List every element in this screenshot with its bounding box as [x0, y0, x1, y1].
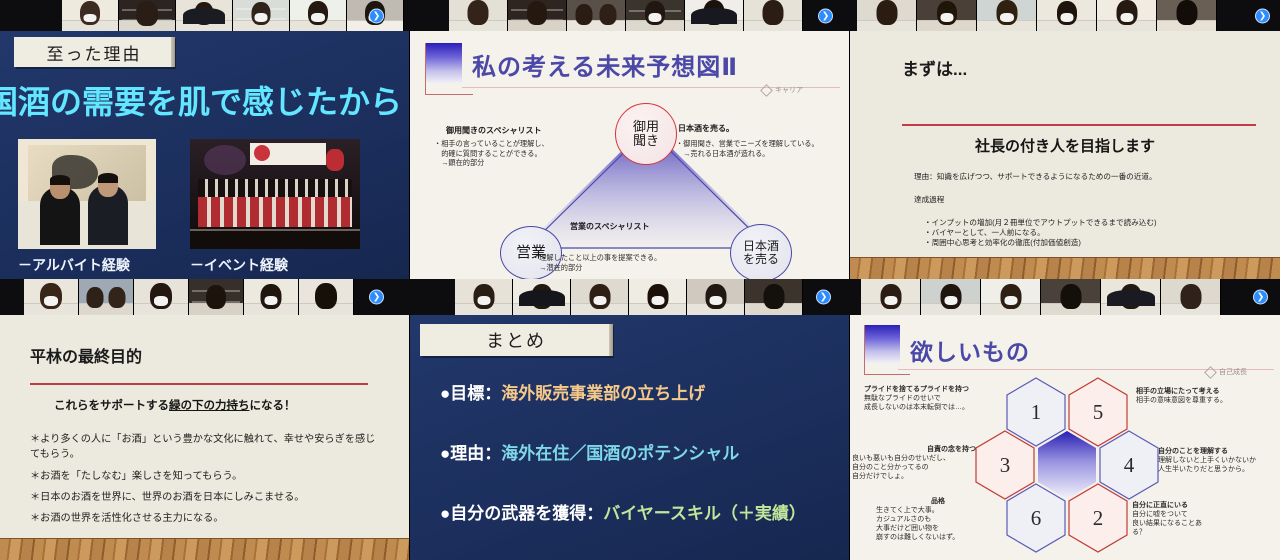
- lead-pre: これらをサポートする: [54, 400, 169, 412]
- summary-bullet-goal: ●目標：海外販売事業部の立ち上げ: [440, 379, 705, 404]
- participant-strip-top: ❯: [0, 0, 1280, 31]
- participant-tile[interactable]: [981, 279, 1041, 315]
- node-sell-sake: 日本酒を売る: [730, 224, 792, 279]
- keyword-career: キャリア: [762, 85, 803, 95]
- participant-group-center: ❯: [409, 279, 849, 315]
- slide-summary[interactable]: まとめ ●目標：海外販売事業部の立ち上げ ●理由：海外在住／国酒のポテンシャル …: [410, 315, 849, 560]
- slide-summary-tag: まとめ: [420, 324, 612, 356]
- slide-first-step[interactable]: まずは... 社長の付き人を目指します 理由：知識を広げつつ、サポートできるよう…: [850, 31, 1280, 279]
- diamond-icon: [760, 84, 773, 97]
- slide-first-step-title: まずは...: [902, 55, 967, 80]
- participant-group-right: ❯: [849, 279, 1280, 315]
- note-self-blame-title: 自責の念を持つ: [852, 445, 976, 454]
- participant-group-left: ❯: [0, 279, 409, 315]
- next-participants-button[interactable]: ❯: [369, 8, 384, 23]
- note-empathy: 相手の立場にたって考える 相手の意味意図を尊重する。: [1136, 387, 1276, 405]
- summary-bullet-reason-key: ●理由：: [440, 444, 501, 463]
- hexagon-2-number: 2: [1067, 483, 1129, 553]
- slide-first-step-process-item: ・周囲中心思考と効率化の徹底(付加価値創造): [924, 237, 1081, 248]
- note-pride-title: プライドを捨てるプライドを持つ: [864, 385, 996, 394]
- left-annotation-body: ・相手の言っていることが理解し、 的確に質問することができる。 →顕在的部分: [434, 139, 549, 168]
- participant-tile[interactable]: [299, 279, 354, 315]
- participant-tile[interactable]: [1037, 0, 1097, 31]
- slide-final-goal[interactable]: 平林の最終目的 これらをサポートする緑の下の力持ちになる！ ＊より多くの人に「お…: [0, 315, 409, 560]
- participant-tile[interactable]: [233, 0, 290, 31]
- slide-final-goal-bullet: ＊お酒を「たしなむ」楽しさを知ってもらう。: [30, 470, 242, 485]
- title-rule: [30, 383, 368, 385]
- slide-what-i-want[interactable]: 欲しいもの 自己成長 1 5: [850, 315, 1280, 560]
- summary-bullet-reason-value: 海外在住／国酒のポテンシャル: [501, 444, 739, 463]
- participant-tile[interactable]: [1097, 0, 1157, 31]
- gradient-square-frame: [864, 325, 910, 375]
- summary-bullet-weapon: ●自分の武器を獲得：バイヤースキル（＋実績）: [440, 499, 806, 524]
- note-dignity: 品格 生きてく上で大事。 カジュアルさのも 大事だけど囲い物を 崩すのは難しくな…: [876, 497, 1000, 542]
- diamond-icon: [1204, 366, 1217, 379]
- slide-final-goal-lead: これらをサポートする緑の下の力持ちになる！: [54, 397, 296, 413]
- participant-tile[interactable]: [1157, 0, 1217, 31]
- summary-bullet-weapon-key: ●自分の武器を獲得：: [440, 504, 603, 523]
- participant-tile[interactable]: [921, 279, 981, 315]
- participant-tile[interactable]: [857, 0, 917, 31]
- participant-tile[interactable]: [176, 0, 233, 31]
- participant-tile[interactable]: [571, 279, 629, 315]
- participant-tile[interactable]: [744, 0, 803, 31]
- participant-tile[interactable]: [861, 279, 921, 315]
- slide-first-step-subtitle: 社長の付き人を目指します: [850, 135, 1280, 156]
- lead-underline: 緑の下の力持ち: [169, 400, 250, 412]
- keyword-self-growth: 自己成長: [1206, 367, 1247, 377]
- part-time-job-photo: [18, 139, 156, 249]
- slide-final-goal-title: 平林の最終目的: [30, 343, 142, 367]
- summary-bullet-goal-key: ●目標：: [440, 384, 501, 403]
- participant-tile[interactable]: [79, 279, 134, 315]
- participant-tile[interactable]: [1161, 279, 1221, 315]
- slide-reason-headline: 国酒の需要を肌で感じたから: [0, 77, 402, 123]
- note-honesty-title: 自分に正直にいる: [1132, 501, 1256, 510]
- participant-group-right: ❯: [849, 0, 1280, 31]
- hexagon-6[interactable]: 6: [1005, 483, 1067, 553]
- participant-tile[interactable]: [62, 0, 119, 31]
- lead-post: になる！: [250, 400, 296, 412]
- participant-tile[interactable]: [567, 0, 626, 31]
- left-annotation-heading: 御用聞きのスペシャリスト: [446, 125, 541, 136]
- note-honesty: 自分に正直にいる 自分に嘘をついて 良い結果になることあ る？: [1132, 501, 1256, 537]
- note-self-understanding-body: 理解しないと上手くいかないか 人生半いたりだと思うから。: [1158, 457, 1256, 473]
- note-dignity-body: 生きてく上で大事。 カジュアルさのも 大事だけど囲い物を 崩すのは難しくないはず…: [876, 507, 959, 541]
- participant-tile[interactable]: [1041, 279, 1101, 315]
- event-photo: [190, 139, 360, 249]
- wood-floor-decoration: [850, 257, 1280, 279]
- slide-final-goal-bullet: ＊日本のお酒を世界に、世界のお酒を日本にしみこませる。: [30, 491, 304, 506]
- slide-future-vision-title: 私の考える未来予想図Ⅱ: [472, 47, 738, 82]
- participant-tile[interactable]: [1101, 279, 1161, 315]
- slide-what-i-want-title: 欲しいもの: [910, 333, 1030, 367]
- slide-reason[interactable]: 至った理由 国酒の需要を肌で感じたから: [0, 31, 409, 279]
- note-pride-body: 無駄なプライドのせいで 成長しないのは本末転倒では…。: [864, 395, 969, 411]
- participant-strip-middle: ❯: [0, 279, 1280, 315]
- bottom-annotation-body: ・理解したこと以上の事を提案できる。 →潜在的部分: [532, 253, 661, 272]
- participant-tile[interactable]: [685, 0, 744, 31]
- hexagon-6-number: 6: [1005, 483, 1067, 553]
- summary-bullet-goal-value: 海外販売事業部の立ち上げ: [501, 384, 705, 403]
- participant-tile[interactable]: [513, 279, 571, 315]
- participant-tile[interactable]: [455, 279, 513, 315]
- note-self-blame: 自責の念を持つ 良いも悪いも自分のせいだし、 自分のこと分かってるの 自分だけで…: [852, 445, 976, 481]
- title-rule: [902, 124, 1256, 126]
- slide-final-goal-bullet: ＊お酒の世界を活性化させる主力になる。: [30, 512, 224, 527]
- slide-future-vision[interactable]: 私の考える未来予想図Ⅱ キャリア: [410, 31, 849, 279]
- slide-first-step-process-heading: 達成過程: [914, 194, 944, 205]
- participant-tile[interactable]: [119, 0, 176, 31]
- right-annotation-heading: 日本酒を売る。: [678, 123, 734, 134]
- note-empathy-title: 相手の立場にたって考える: [1136, 387, 1276, 396]
- participant-tile[interactable]: [687, 279, 745, 315]
- participant-tile[interactable]: [977, 0, 1037, 31]
- slide-first-step-reason: 理由：知識を広げつつ、サポートできるようになるための一番の近道。: [914, 171, 1157, 182]
- participant-tile[interactable]: [24, 279, 79, 315]
- slide-reason-tag: 至った理由: [14, 37, 174, 67]
- participant-tile[interactable]: [629, 279, 687, 315]
- next-participants-button[interactable]: ❯: [369, 290, 384, 305]
- wood-floor-decoration: [0, 538, 409, 560]
- note-self-understanding-title: 自分のことを理解する: [1158, 447, 1280, 456]
- note-self-blame-body: 良いも悪いも自分のせいだし、 自分のこと分かってるの 自分だけでしょ。: [852, 455, 950, 480]
- next-participants-button[interactable]: ❯: [818, 8, 833, 23]
- next-participants-button[interactable]: ❯: [1253, 290, 1268, 305]
- participant-tile[interactable]: [626, 0, 685, 31]
- participant-tile[interactable]: [134, 279, 189, 315]
- part-time-job-caption: －アルバイト経験: [18, 255, 130, 275]
- summary-bullet-reason: ●理由：海外在住／国酒のポテンシャル: [440, 439, 739, 464]
- note-empathy-body: 相手の意味意図を尊重する。: [1136, 397, 1227, 404]
- participant-group-left: ❯: [0, 0, 409, 31]
- zoom-meeting-screen: ❯: [0, 0, 1280, 560]
- participant-tile[interactable]: [290, 0, 347, 31]
- next-participants-button[interactable]: ❯: [816, 290, 831, 305]
- note-honesty-body: 自分に嘘をついて 良い結果になることあ る？: [1132, 511, 1202, 536]
- participant-tile[interactable]: [745, 279, 803, 315]
- event-caption: －イベント経験: [190, 255, 288, 275]
- note-pride: プライドを捨てるプライドを持つ 無駄なプライドのせいで 成長しないのは本末転倒で…: [864, 385, 996, 412]
- slide-final-goal-bullet: ＊より多くの人に「お酒」という豊かな文化に触れて、幸せや安らぎを感じてもらう。: [30, 433, 378, 463]
- right-annotation-body: ・御用聞き、営業でニーズを理解している。 →売れる日本酒が造れる。: [676, 139, 819, 158]
- note-dignity-title: 品格: [876, 497, 1000, 506]
- participant-group-center: ❯: [409, 0, 849, 31]
- participant-tile[interactable]: [917, 0, 977, 31]
- hexagon-2[interactable]: 2: [1067, 483, 1129, 553]
- summary-bullet-weapon-value: バイヤースキル（＋実績）: [603, 504, 806, 523]
- note-self-understanding: 自分のことを理解する 理解しないと上手くいかないか 人生半いたりだと思うから。: [1158, 447, 1280, 474]
- node-goyo-kiki: 御用聞き: [615, 103, 677, 165]
- next-participants-button[interactable]: ❯: [1255, 8, 1270, 23]
- participant-tile[interactable]: [244, 279, 299, 315]
- participant-tile[interactable]: [449, 0, 508, 31]
- participant-tile[interactable]: [508, 0, 567, 31]
- participant-tile[interactable]: [189, 279, 244, 315]
- bottom-annotation-heading: 営業のスペシャリスト: [570, 221, 649, 232]
